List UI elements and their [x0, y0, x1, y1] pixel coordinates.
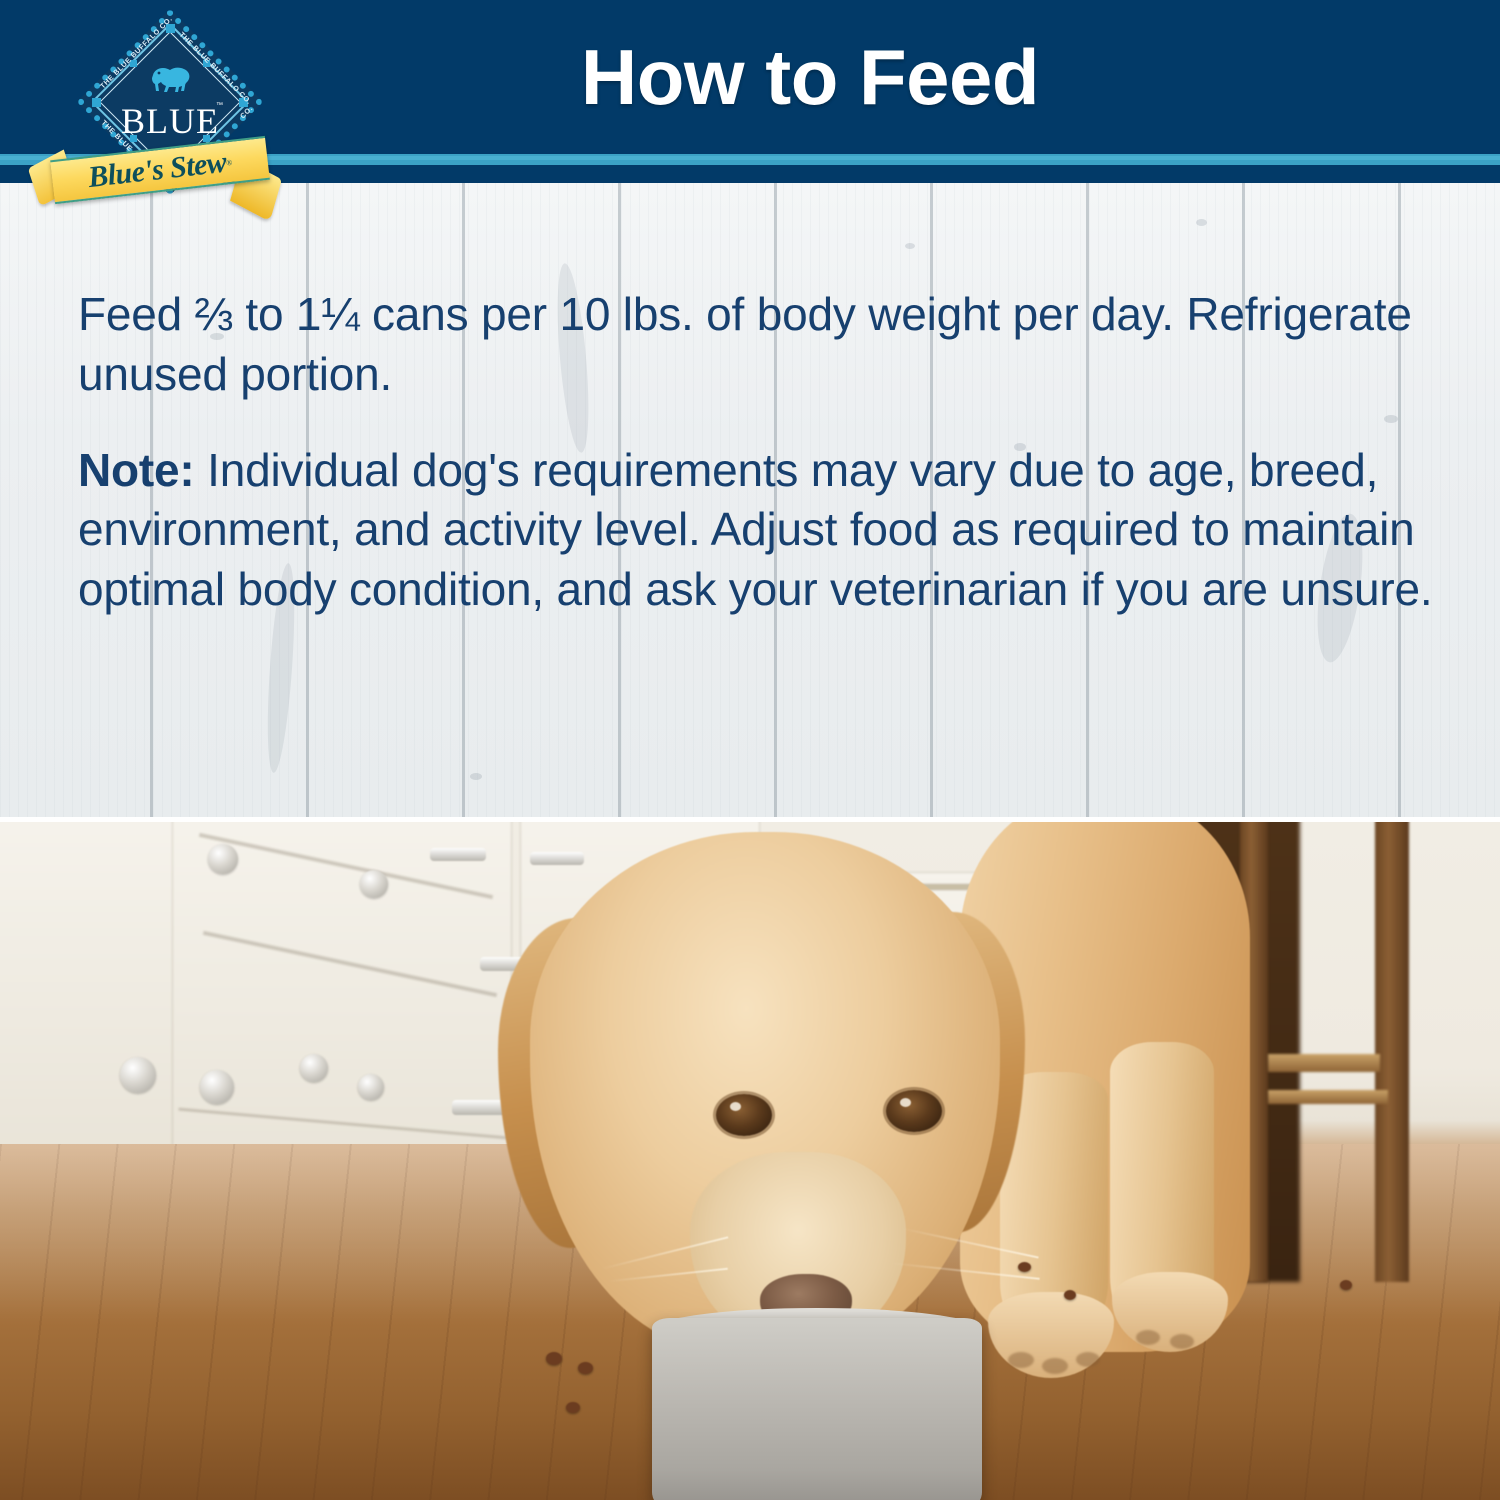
- cabinet-pull: [430, 848, 486, 861]
- paw-toe: [1170, 1334, 1194, 1349]
- feeding-guide-page: How to Feed THE: [0, 0, 1500, 1500]
- eye-glint-left: [730, 1102, 741, 1111]
- cabinet-panel: [172, 822, 512, 1172]
- dog-eye-right: [886, 1090, 942, 1132]
- kibble-piece: [1340, 1280, 1352, 1290]
- kibble-piece: [1064, 1290, 1076, 1300]
- kibble-piece: [1018, 1262, 1031, 1272]
- cabinet-panel: [0, 822, 180, 1162]
- kibble-piece: [566, 1402, 580, 1413]
- wood-knot: [470, 773, 482, 780]
- feeding-instructions: Feed ⅔ to 1¼ cans per 10 lbs. of body we…: [78, 285, 1438, 620]
- paw-toe: [1076, 1352, 1100, 1367]
- paw-toe: [1042, 1358, 1068, 1374]
- dog-food-bowl: [652, 1318, 982, 1500]
- kibble-piece: [546, 1352, 562, 1365]
- dog-eating-photo: [0, 822, 1500, 1500]
- cabinet-knob: [120, 1057, 156, 1093]
- kibble-piece: [578, 1362, 593, 1374]
- paw-toe: [1008, 1352, 1034, 1368]
- paw-toe: [1136, 1330, 1160, 1345]
- cabinet-knob: [200, 1070, 234, 1104]
- instructions-panel: Feed ⅔ to 1¼ cans per 10 lbs. of body we…: [0, 183, 1500, 817]
- ribbon-product-name: Blue's Stew: [86, 146, 228, 195]
- feeding-amount-paragraph: Feed ⅔ to 1¼ cans per 10 lbs. of body we…: [78, 285, 1438, 405]
- cabinet-knob: [358, 1074, 384, 1100]
- cabinet-knob: [300, 1054, 328, 1082]
- feeding-note-paragraph: Note: Individual dog's requirements may …: [78, 441, 1438, 620]
- stool-rail: [1268, 1090, 1388, 1104]
- brand-logo: THE BLUE BUFFALO CO. THE BLUE BUFFALO CO…: [38, 22, 288, 208]
- stool-leg: [1375, 822, 1409, 1282]
- note-label: Note:: [78, 444, 195, 496]
- cabinet-pull: [530, 852, 584, 865]
- blue-wordmark-trademark: ™: [216, 102, 223, 109]
- dog-eye-left: [716, 1094, 772, 1136]
- eye-glint-right: [900, 1098, 911, 1107]
- cabinet-knob: [208, 844, 238, 874]
- note-text: Individual dog's requirements may vary d…: [78, 444, 1432, 616]
- wood-knot: [905, 243, 915, 249]
- wood-knot: [1196, 219, 1207, 226]
- cabinet-knob: [360, 870, 388, 898]
- ribbon-trademark: ®: [226, 157, 233, 167]
- buffalo-icon: [147, 64, 193, 94]
- blues-stew-ribbon: Blue's Stew®: [38, 128, 288, 212]
- stool-rail: [1268, 1054, 1380, 1072]
